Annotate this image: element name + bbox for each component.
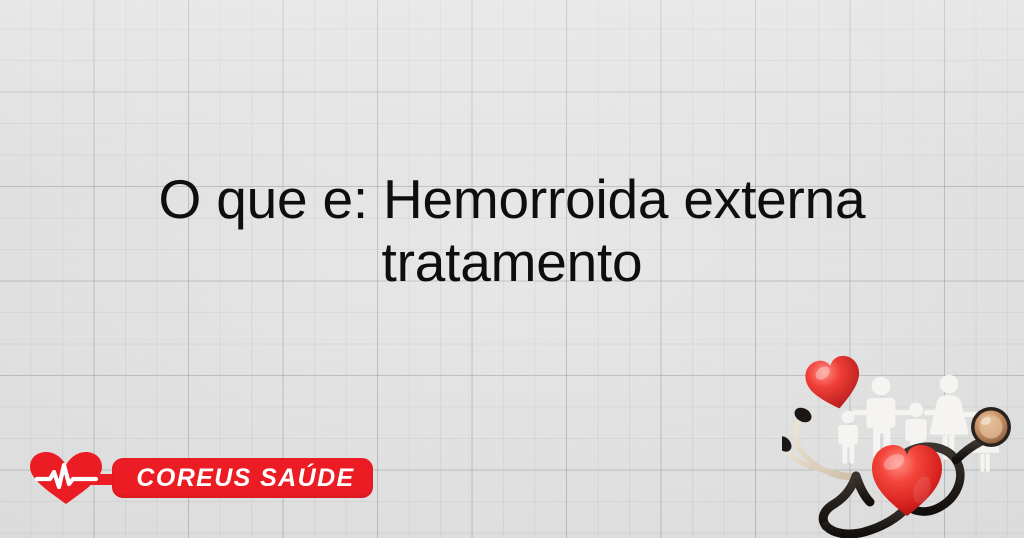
- title-line-1: O que e: Hemorroida externa: [60, 168, 964, 231]
- health-collage: [782, 352, 1024, 538]
- slide-canvas: O que e: Hemorroida externa tratamento C…: [0, 0, 1024, 538]
- heart-pulse-icon: [28, 451, 104, 505]
- brand-banner: COREUS SAÚDE: [112, 458, 373, 498]
- page-title: O que e: Hemorroida externa tratamento: [0, 168, 1024, 294]
- brand-name-label: COREUS SAÚDE: [112, 458, 373, 498]
- title-line-2: tratamento: [60, 231, 964, 294]
- brand-logo[interactable]: COREUS SAÚDE: [28, 449, 348, 507]
- heart-icon-small: [802, 353, 865, 414]
- stethoscope-chestpiece: [971, 407, 1011, 447]
